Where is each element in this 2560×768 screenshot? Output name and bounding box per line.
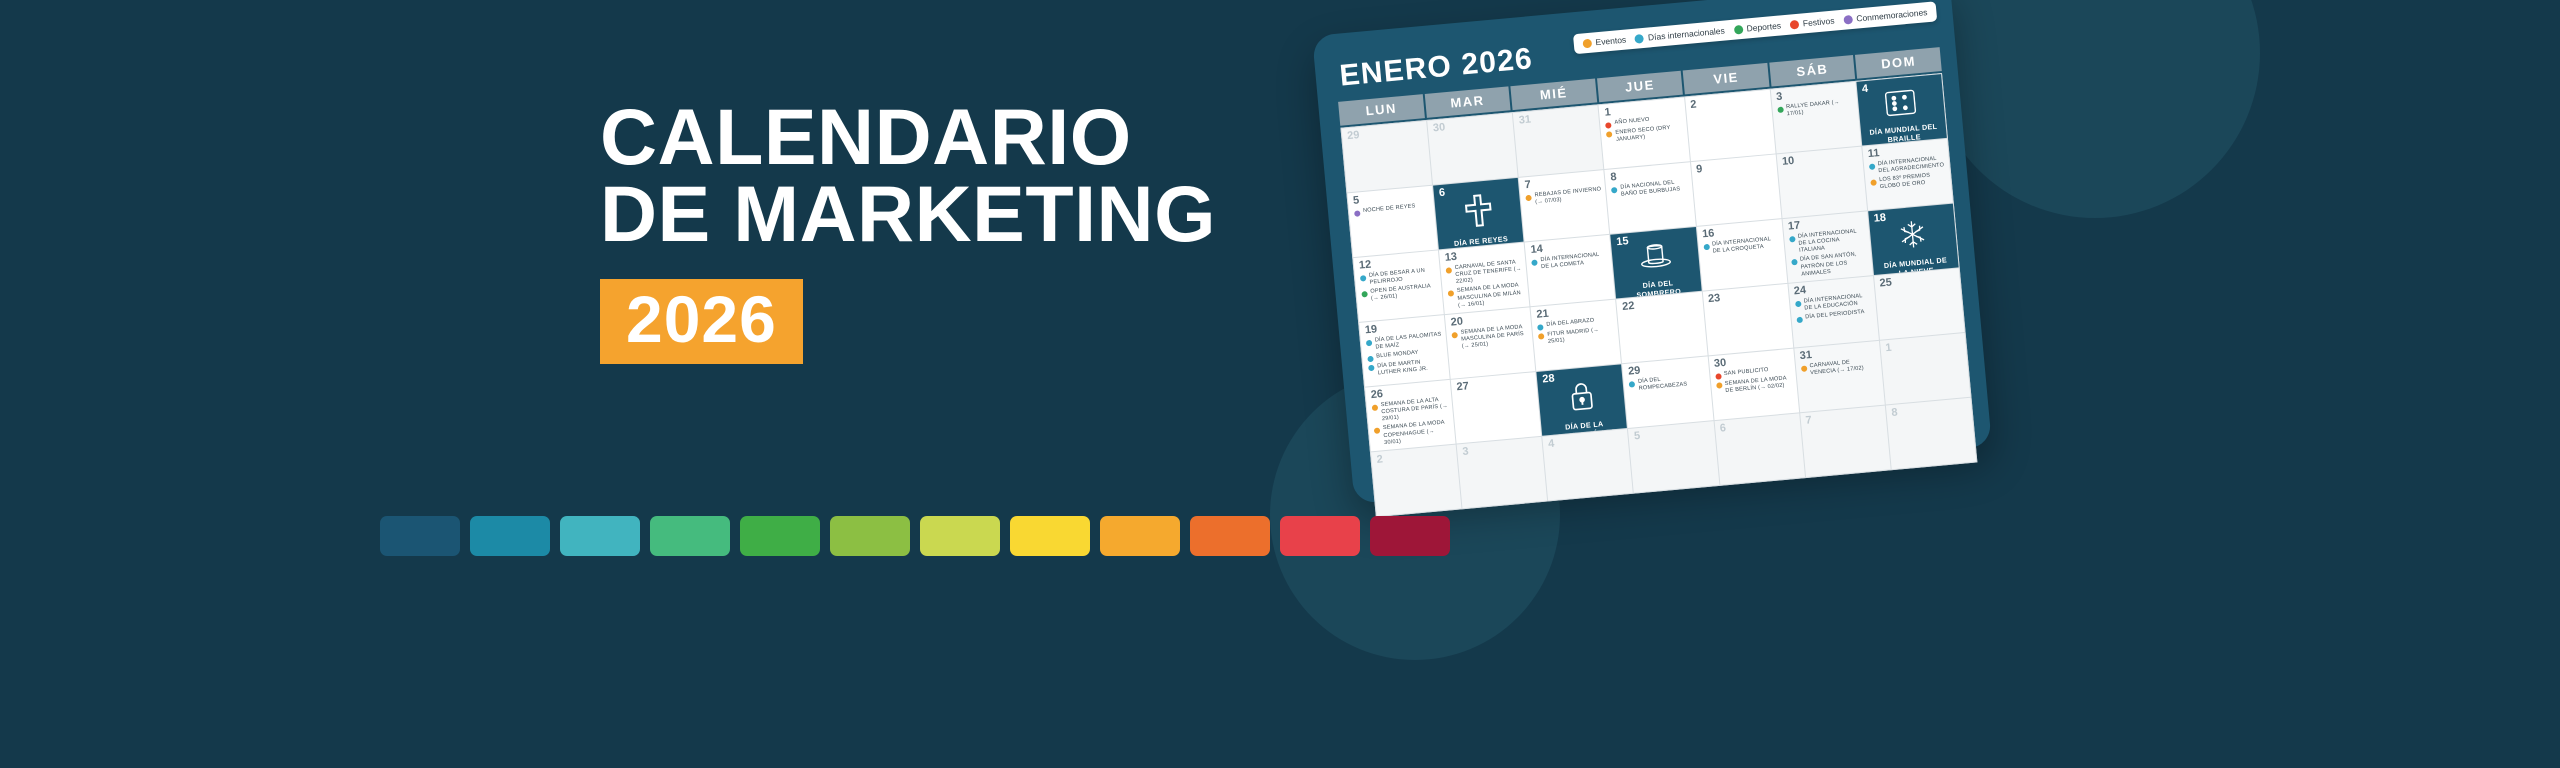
calendar-day-cell[interactable]: 4 [1543, 429, 1634, 500]
day-number: 2 [1376, 448, 1453, 466]
color-swatch[interactable] [920, 516, 1000, 556]
calendar-grid: 2930311AÑO NUEVOENERO SECO (DRY JANUARY)… [1340, 73, 1977, 517]
event-category-dot-icon [1354, 210, 1361, 217]
legend-item[interactable]: Deportes [1733, 20, 1781, 34]
color-swatch[interactable] [1100, 516, 1180, 556]
event-category-dot-icon [1361, 291, 1368, 298]
year-label: 2026 [626, 282, 777, 356]
calendar-day-cell[interactable]: 30 [1427, 113, 1518, 184]
calendar-day-cell[interactable]: 29DÍA DEL ROMPECABEZAS [1622, 356, 1713, 427]
calendar-day-cell[interactable]: 26SEMANA DE LA ALTA COSTURA DE PARÍS (→ … [1365, 380, 1456, 451]
calendar-day-cell[interactable]: 3 [1457, 437, 1548, 508]
calendar-day-cell[interactable]: 14DÍA INTERNACIONAL DE LA COMETA [1525, 235, 1616, 306]
day-number: 5 [1634, 425, 1711, 443]
color-swatch[interactable] [650, 516, 730, 556]
day-number: 27 [1456, 375, 1533, 393]
calendar-day-cell[interactable]: 8 [1886, 398, 1977, 469]
calendar-day-cell[interactable]: 5NOCHE DE REYES [1347, 186, 1438, 257]
event-category-dot-icon [1360, 275, 1367, 282]
calendar-day-cell[interactable]: 27 [1451, 372, 1542, 443]
legend-label: Festivos [1802, 16, 1834, 29]
calendar-day-cell[interactable]: 1AÑO NUEVOENERO SECO (DRY JANUARY) [1599, 98, 1690, 169]
day-number: 29 [1347, 124, 1424, 142]
event-category-dot-icon [1368, 365, 1375, 372]
calendar-day-featured[interactable]: 15DÍA DEL SOMBRERO [1611, 227, 1702, 298]
calendar-day-cell[interactable]: 5 [1628, 421, 1719, 492]
event-category-dot-icon [1531, 259, 1538, 266]
event-category-dot-icon [1448, 290, 1455, 297]
legend-item[interactable]: Días internacionales [1635, 26, 1726, 44]
day-number: 1 [1885, 336, 1962, 354]
event-category-dot-icon [1366, 339, 1373, 346]
event-category-dot-icon [1605, 122, 1612, 129]
day-number: 4 [1548, 432, 1625, 450]
calendar-body: LUNMARMIÉJUEVIESÁBDOM 2930311AÑO NUEVOEN… [1338, 47, 1977, 517]
event-category-dot-icon [1611, 186, 1618, 193]
event-label: SEMANA DE LA MODA COPENHAGUE (→ 30/01) [1383, 420, 1452, 447]
legend-dot-icon [1582, 38, 1592, 48]
calendar-day-cell[interactable]: 2 [1685, 90, 1776, 161]
calendar-day-cell[interactable]: 31 [1513, 105, 1604, 176]
day-number: 2 [1690, 93, 1767, 111]
calendar-day-cell[interactable]: 19DÍA DE LAS PALOMITAS DE MAÍZBLUE MONDA… [1359, 315, 1450, 386]
day-number: 9 [1696, 158, 1773, 176]
calendar-day-cell[interactable]: 13CARNAVAL DE SANTA CRUZ DE TENERIFE (→ … [1439, 243, 1530, 314]
event-category-dot-icon [1801, 365, 1808, 372]
calendar-day-cell[interactable]: 31CARNAVAL DE VENECIA (→ 17/02) [1794, 341, 1885, 412]
calendar-day-cell[interactable]: 10 [1776, 147, 1867, 218]
calendar-day-cell[interactable]: 22 [1617, 292, 1708, 363]
calendar-day-cell[interactable]: 11DÍA INTERNACIONAL DEL AGRADECIMIENTOLO… [1862, 139, 1953, 210]
event-category-dot-icon [1452, 331, 1459, 338]
color-swatch[interactable] [470, 516, 550, 556]
calendar-day-cell[interactable]: 2 [1371, 445, 1462, 516]
tablet-device: ENERO 2026 EventosDías internacionalesDe… [1312, 0, 1992, 504]
snowflake-icon [1897, 218, 1930, 256]
calendar-event[interactable]: DÍA DE SAN ANTÓN, PATRÓN DE LOS ANIMALES [1791, 251, 1869, 279]
event-category-dot-icon [1796, 317, 1803, 324]
event-category-dot-icon [1606, 131, 1613, 138]
event-label: AÑO NUEVO [1614, 117, 1650, 127]
legend-label: Días internacionales [1648, 26, 1726, 43]
color-swatch[interactable] [740, 516, 820, 556]
color-swatch[interactable] [380, 516, 460, 556]
calendar-event[interactable]: SEMANA DE LA MODA MASCULINA DE MILÁN (→ … [1448, 282, 1526, 310]
day-number: 6 [1719, 417, 1796, 435]
day-number: 28 [1542, 373, 1555, 385]
day-number: 7 [1805, 409, 1882, 427]
calendar-day-cell[interactable]: 21DÍA DEL ABRAZOFITUR MADRID (→ 25/01) [1531, 300, 1622, 371]
event-category-dot-icon [1789, 236, 1796, 243]
legend-item[interactable]: Conmemoraciones [1843, 7, 1928, 25]
day-number: 3 [1462, 440, 1539, 458]
legend-label: Conmemoraciones [1856, 7, 1928, 23]
legend-label: Deportes [1746, 20, 1781, 33]
event-category-dot-icon [1367, 356, 1374, 363]
color-swatch-strip [380, 516, 1450, 556]
day-number: 15 [1616, 236, 1629, 248]
headline-block: CALENDARIO DE MARKETING 2026 [600, 98, 1300, 364]
day-number: 4 [1862, 84, 1869, 96]
color-swatch[interactable] [1280, 516, 1360, 556]
calendar-day-featured[interactable]: 6DÍA RE REYES [1433, 178, 1524, 249]
calendar-day-cell[interactable]: 12DÍA DE BESAR A UN PELIRROJOOPEN DE AUS… [1353, 250, 1444, 321]
event-category-dot-icon [1629, 381, 1636, 388]
calendar-day-cell[interactable]: 3RALLYE DAKAR (→ 17/01) [1770, 82, 1861, 153]
color-swatch[interactable] [1370, 516, 1450, 556]
event-category-dot-icon [1791, 259, 1798, 266]
lock-icon [1567, 379, 1596, 418]
color-swatch[interactable] [1190, 516, 1270, 556]
day-number: 18 [1873, 213, 1886, 225]
calendar-legend: EventosDías internacionalesDeportesFesti… [1573, 1, 1938, 54]
day-number: 30 [1433, 117, 1510, 135]
calendar-day-cell[interactable]: 30SAN PUBLICITOSEMANA DE LA MODA DE BERL… [1708, 349, 1799, 420]
calendar-day-featured[interactable]: 28DÍA DE LA PROTECCIÓN DE DATOS [1537, 364, 1628, 435]
day-number: 22 [1622, 295, 1699, 313]
tablet-frame: ENERO 2026 EventosDías internacionalesDe… [1312, 0, 1992, 504]
calendar-day-cell[interactable]: 24DÍA INTERNACIONAL DE LA EDUCACIÓNDÍA D… [1788, 276, 1879, 347]
hat-icon [1637, 241, 1674, 277]
calendar-day-cell[interactable]: 17DÍA INTERNACIONAL DE LA COCINA ITALIAN… [1782, 211, 1873, 282]
event-label: SEMANA DE LA MODA MASCULINA DE PARÍS (→ … [1460, 324, 1529, 351]
legend-dot-icon [1733, 24, 1743, 34]
legend-item[interactable]: Festivos [1790, 16, 1835, 30]
color-swatch[interactable] [560, 516, 640, 556]
legend-dot-icon [1790, 19, 1800, 29]
event-category-dot-icon [1716, 382, 1723, 389]
cross-icon [1462, 192, 1495, 234]
title-line-1: CALENDARIO [600, 98, 1300, 175]
color-swatch[interactable] [1010, 516, 1090, 556]
calendar-day-cell[interactable]: 25 [1874, 268, 1965, 339]
day-number: 23 [1708, 287, 1785, 305]
event-category-dot-icon [1715, 373, 1722, 380]
calendar-day-cell[interactable]: 7 [1800, 406, 1891, 477]
calendar-day-cell[interactable]: 8DÍA NACIONAL DEL BAÑO DE BURBUJAS [1605, 162, 1696, 233]
calendar-day-cell[interactable]: 1 [1880, 333, 1971, 404]
legend-dot-icon [1843, 14, 1853, 24]
event-category-dot-icon [1795, 300, 1802, 307]
calendar-event[interactable]: SEMANA DE LA MODA COPENHAGUE (→ 30/01) [1374, 420, 1452, 448]
year-badge: 2026 [600, 279, 803, 364]
braille-icon [1885, 89, 1918, 123]
calendar-day-featured[interactable]: 18DÍA MUNDIAL DE LA NIEVE [1868, 204, 1959, 275]
calendar-day-cell[interactable]: 16DÍA INTERNACIONAL DE LA CROQUETA [1696, 219, 1787, 290]
event-category-dot-icon [1777, 106, 1784, 113]
event-category-dot-icon [1870, 179, 1877, 186]
event-category-dot-icon [1446, 267, 1453, 274]
calendar-event[interactable]: SEMANA DE LA MODA MASCULINA DE PARÍS (→ … [1451, 324, 1529, 352]
day-number: 25 [1879, 272, 1956, 290]
event-category-dot-icon [1374, 427, 1381, 434]
calendar-day-cell[interactable]: 29 [1342, 121, 1433, 192]
decorative-circle-top-right [1930, 0, 2260, 218]
event-category-dot-icon [1869, 163, 1876, 170]
calendar-day-cell[interactable]: 9 [1691, 154, 1782, 225]
event-label: SEMANA DE LA MODA MASCULINA DE MILÁN (→ … [1457, 282, 1526, 309]
day-number: 10 [1782, 150, 1859, 168]
title-line-2: DE MARKETING [600, 175, 1300, 252]
calendar-day-cell[interactable]: 7REBAJAS DE INVIERNO (→ 07/03) [1519, 170, 1610, 241]
event-label: DÍA DE SAN ANTÓN, PATRÓN DE LOS ANIMALES [1800, 251, 1869, 278]
calendar-day-featured[interactable]: 4DÍA MUNDIAL DEL BRAILLE [1856, 74, 1947, 145]
day-number: 31 [1518, 109, 1595, 127]
event-category-dot-icon [1703, 243, 1710, 250]
legend-dot-icon [1635, 33, 1645, 43]
day-number: 8 [1891, 401, 1968, 419]
legend-item[interactable]: Eventos [1582, 35, 1626, 49]
event-category-dot-icon [1526, 194, 1533, 201]
event-category-dot-icon [1372, 404, 1379, 411]
color-swatch[interactable] [830, 516, 910, 556]
calendar-day-cell[interactable]: 6 [1714, 413, 1805, 484]
legend-label: Eventos [1595, 35, 1626, 48]
calendar-day-cell[interactable]: 23 [1702, 284, 1793, 355]
event-category-dot-icon [1538, 333, 1545, 340]
calendar-day-cell[interactable]: 20SEMANA DE LA MODA MASCULINA DE PARÍS (… [1445, 307, 1536, 378]
event-category-dot-icon [1537, 324, 1544, 331]
day-number: 6 [1438, 188, 1445, 200]
